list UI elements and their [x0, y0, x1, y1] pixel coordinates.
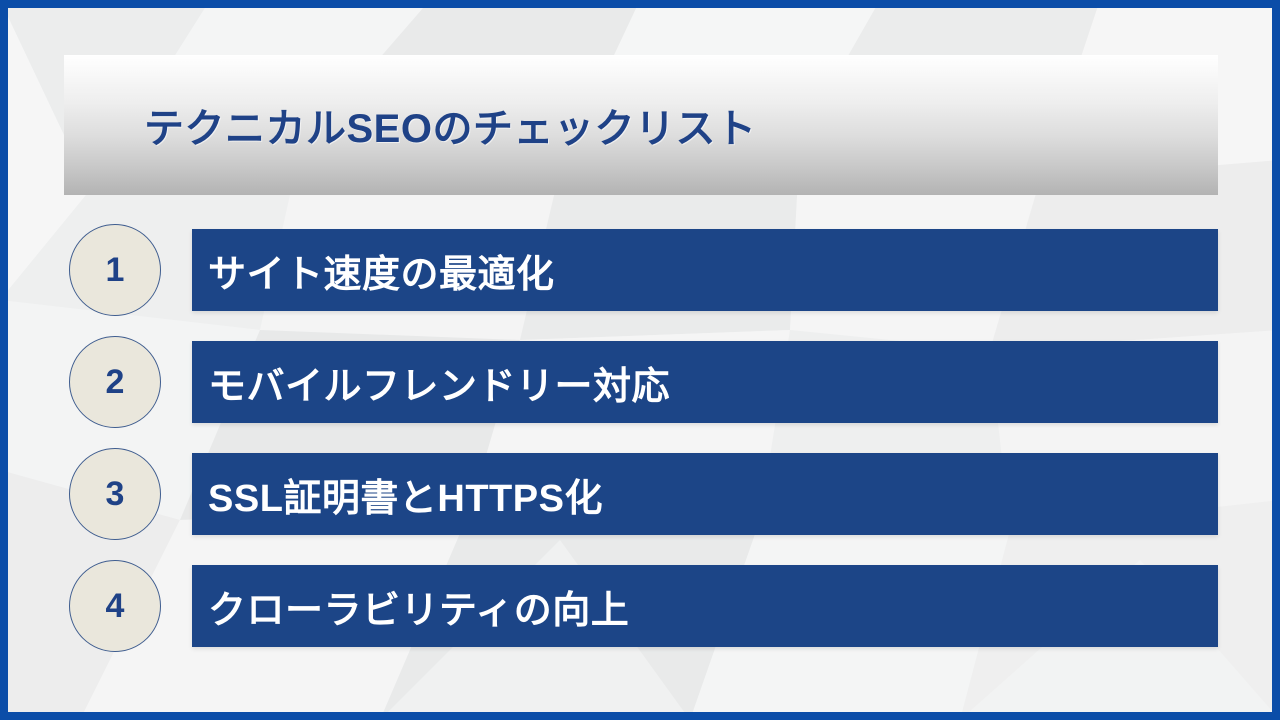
item-number: 3 [106, 477, 125, 511]
item-number: 2 [106, 365, 125, 399]
item-bar[interactable]: SSL証明書とHTTPS化 [192, 453, 1218, 535]
title-banner: テクニカルSEOのチェックリスト [64, 55, 1218, 195]
item-number: 1 [106, 253, 125, 287]
item-number-badge: 3 [69, 448, 161, 540]
item-bar[interactable]: クローラビリティの向上 [192, 565, 1218, 647]
list-item[interactable]: 2 モバイルフレンドリー対応 [0, 341, 1280, 423]
slide-canvas: テクニカルSEOのチェックリスト 1 サイト速度の最適化 2 モバイルフレンドリ… [0, 0, 1280, 720]
item-bar[interactable]: サイト速度の最適化 [192, 229, 1218, 311]
item-label: クローラビリティの向上 [192, 579, 629, 634]
item-number-badge: 1 [69, 224, 161, 316]
list-item[interactable]: 4 クローラビリティの向上 [0, 565, 1280, 647]
item-bar[interactable]: モバイルフレンドリー対応 [192, 341, 1218, 423]
item-number: 4 [106, 589, 125, 623]
item-number-badge: 4 [69, 560, 161, 652]
list-item[interactable]: 1 サイト速度の最適化 [0, 229, 1280, 311]
checklist: 1 サイト速度の最適化 2 モバイルフレンドリー対応 3 SSL証明書とHTTP… [0, 229, 1280, 677]
item-label: サイト速度の最適化 [192, 243, 555, 298]
item-label: SSL証明書とHTTPS化 [192, 467, 603, 522]
page-title: テクニカルSEOのチェックリスト [144, 96, 756, 154]
item-number-badge: 2 [69, 336, 161, 428]
list-item[interactable]: 3 SSL証明書とHTTPS化 [0, 453, 1280, 535]
item-label: モバイルフレンドリー対応 [192, 355, 670, 410]
